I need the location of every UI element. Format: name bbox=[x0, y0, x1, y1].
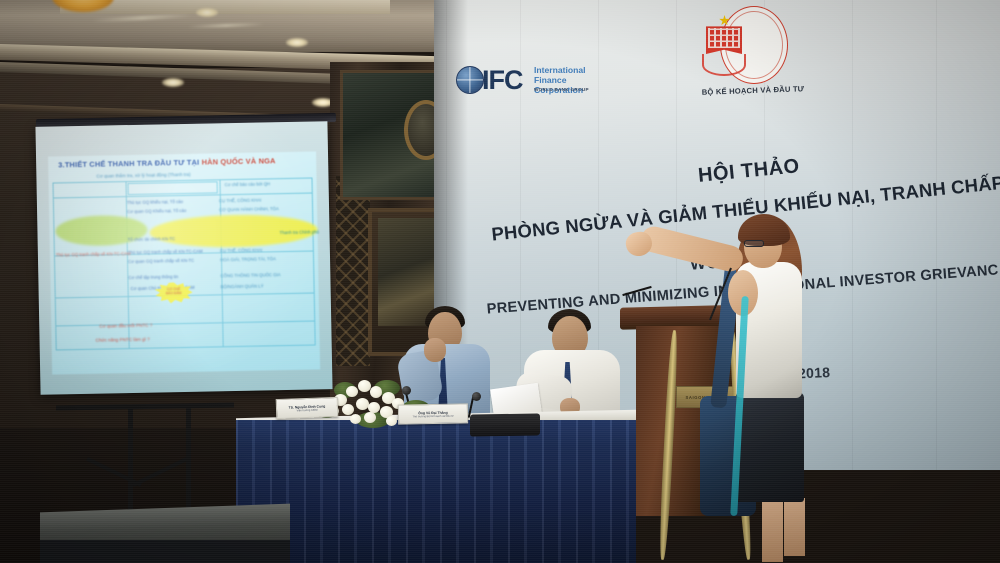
ifc-tagline-line2: Finance Corporation bbox=[534, 75, 616, 95]
stage-front-face bbox=[40, 540, 290, 563]
slide-title-prefix: 3.THIẾT CHẾ THANH TRA ĐẦU TƯ TẠI bbox=[58, 158, 202, 170]
slide-row-label-2: Tổ chức tài chính KN-TC bbox=[128, 236, 176, 242]
slide-row-value-4: HOÀ GIẢI, TRỌNG TÀI, TÒA bbox=[220, 256, 276, 262]
slide-subtitle: Cơ quan thẩm tra, xử lý hoạt động (Thanh… bbox=[96, 172, 190, 179]
microphone-head bbox=[472, 392, 481, 401]
slide-table bbox=[53, 178, 316, 351]
book-pages-detail bbox=[708, 28, 740, 48]
nameplate-left-role: Viện trưởng CIEM bbox=[297, 408, 318, 412]
conference-device bbox=[470, 413, 540, 436]
wheat-wreath-icon bbox=[702, 54, 746, 76]
slide-row-label-5: Cơ chế tập trung thông tin bbox=[128, 274, 178, 280]
ministry-caption: BỘ KẾ HOẠCH VÀ ĐẦU TƯ bbox=[690, 84, 816, 97]
conference-photo-scene: 3.THIẾT CHẾ THANH TRA ĐẦU TƯ TẠI HÀN QUỐ… bbox=[0, 0, 1000, 563]
nameplate-left: TS. Nguyễn Đình Cung Viện trưởng CIEM bbox=[276, 397, 339, 419]
ministry-logo-block: BỘ KẾ HOẠCH VÀ ĐẦU TƯ bbox=[690, 6, 816, 102]
recessed-downlight-icon bbox=[196, 8, 218, 17]
ifc-worldbank-tagline: WORLD BANK GROUP bbox=[534, 87, 589, 92]
slide-footer-line2: Chức năng PNTC làm gì ? bbox=[96, 337, 150, 343]
slide-row-value-6: BỘ/NGÀNH QUẢN LÝ bbox=[221, 283, 264, 289]
speaker-skirt bbox=[736, 392, 804, 502]
slide-title-suffix: HÀN QUỐC VÀ NGA bbox=[202, 156, 276, 166]
speaker-leg bbox=[762, 498, 783, 562]
ifc-wordmark: IFC bbox=[482, 65, 523, 96]
recessed-downlight-icon bbox=[162, 78, 184, 87]
speaker-leg bbox=[784, 498, 805, 556]
decorative-lattice-screen bbox=[336, 176, 370, 366]
slide-badge-label: CƠ CHẾ BẢO ĐẢM bbox=[159, 287, 189, 296]
globe-icon bbox=[456, 66, 484, 94]
panel-table-skirt bbox=[236, 420, 636, 563]
slide-title: 3.THIẾT CHẾ THANH TRA ĐẦU TƯ TẠI HÀN QUỐ… bbox=[58, 156, 308, 170]
projection-screen: 3.THIẾT CHẾ THANH TRA ĐẦU TƯ TẠI HÀN QUỐ… bbox=[35, 121, 332, 395]
slide-header-right: Cơ chế báo cáo bởi QH bbox=[225, 181, 271, 187]
recessed-downlight-icon bbox=[286, 38, 308, 47]
nameplate-right: Ông Vũ Đại Thắng Thứ trưởng Bộ Kế hoạch … bbox=[398, 403, 468, 424]
slide-row-value-0: CỤ THỂ, CÔNG KHAI bbox=[219, 198, 262, 204]
slide-footer-line1: Cơ quan đầu mối PNTC ? bbox=[99, 323, 152, 329]
ifc-tagline-line1: International bbox=[534, 65, 616, 75]
slide-row-value-2: Thanh tra Chính phủ bbox=[279, 229, 319, 235]
slide-badge-line2: BẢO ĐẢM bbox=[159, 291, 189, 296]
nameplate-right-role: Thứ trưởng Bộ Kế hoạch và Đầu tư bbox=[412, 414, 453, 418]
slide-row-value-3: CỤ THỂ, CÔNG KHAI bbox=[220, 247, 263, 253]
panelist-left-hand bbox=[424, 338, 446, 362]
presentation-slide: 3.THIẾT CHẾ THANH TRA ĐẦU TƯ TẠI HÀN QUỐ… bbox=[48, 151, 320, 374]
ifc-logo: IFC International Finance Corporation WO… bbox=[456, 56, 616, 104]
eyeglasses-icon bbox=[744, 240, 764, 247]
skirt-pleats bbox=[236, 420, 636, 563]
